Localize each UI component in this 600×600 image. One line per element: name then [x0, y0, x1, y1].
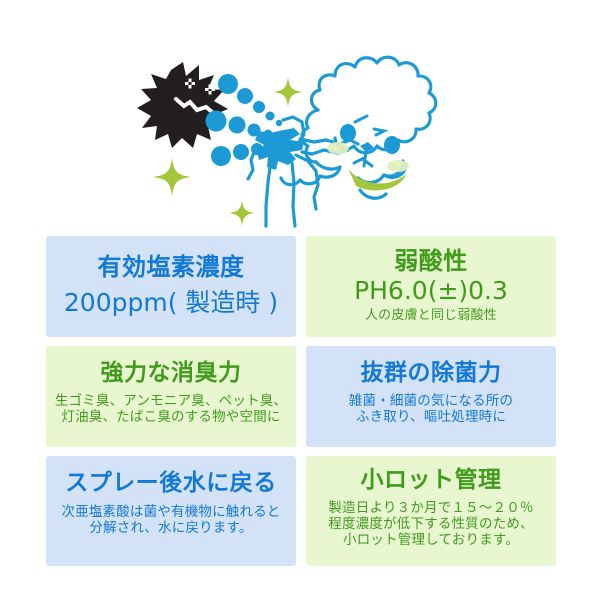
feature-card-sterilization: 抜群の除菌力 雑菌・細菌の気になる所の ふき取り、嘔吐処理時に — [306, 346, 556, 447]
poodle-brow-right — [374, 129, 384, 135]
dog-spray-illustration — [0, 0, 600, 232]
feature-card-ph: 弱酸性 PH6.0(±)0.3 人の皮膚と同じ弱酸性 — [306, 236, 556, 337]
feature-card-grid: 有効塩素濃度 200ppm( 製造時 ) 弱酸性 PH6.0(±)0.3 人の皮… — [46, 236, 556, 566]
feature-value-chlorine: 200ppm( 製造時 ) — [64, 283, 278, 319]
feature-card-returns-to-water: スプレー後水に戻る 次亜塩素酸は菌や有機物に触れると 分解され、水に戻ります。 — [46, 456, 296, 566]
feature-card-chlorine: 有効塩素濃度 200ppm( 製造時 ) — [46, 236, 296, 337]
feature-title-returns-to-water: スプレー後水に戻る — [65, 471, 277, 497]
feature-card-deodorize: 強力な消臭力 生ゴミ臭、アンモニア臭、ペット臭、 灯油臭、たばこ臭のする物や空間… — [46, 346, 296, 447]
poodle-brow-left — [355, 116, 367, 122]
poodle-cheek-right — [387, 160, 409, 172]
feature-sub-small-lot: 製造日より３か月で１５～２０％ 程度濃度が低下する性質のため、 小ロット管理して… — [328, 501, 534, 549]
feature-card-small-lot: 小ロット管理 製造日より３か月で１５～２０％ 程度濃度が低下する性質のため、 小… — [306, 456, 556, 566]
feature-sub-ph: 人の皮膚と同じ弱酸性 — [365, 308, 497, 323]
poodle-cheek-left — [327, 142, 349, 154]
feature-value-ph: PH6.0(±)0.3 — [354, 276, 508, 305]
feature-sub-deodorize: 生ゴミ臭、アンモニア臭、ペット臭、 灯油臭、たばこ臭のする物や空間に — [55, 394, 287, 426]
germ-burst-icon — [137, 62, 228, 148]
feature-sub-returns-to-water: 次亜塩素酸は菌や有機物に触れると 分解され、水に戻ります。 — [61, 505, 280, 537]
feature-title-deodorize: 強力な消臭力 — [101, 361, 242, 387]
product-feature-infographic: 有効塩素濃度 200ppm( 製造時 ) 弱酸性 PH6.0(±)0.3 人の皮… — [0, 0, 600, 600]
feature-title-sterilization: 抜群の除菌力 — [361, 361, 502, 387]
feature-title-chlorine: 有効塩素濃度 — [98, 254, 245, 281]
feature-title-small-lot: 小ロット管理 — [361, 468, 502, 494]
poodle-eye-right — [384, 136, 400, 154]
poodle-eye-left — [340, 124, 356, 142]
feature-title-ph: 弱酸性 — [394, 248, 468, 275]
feature-sub-sterilization: 雑菌・細菌の気になる所の ふき取り、嘔吐処理時に — [349, 394, 513, 426]
